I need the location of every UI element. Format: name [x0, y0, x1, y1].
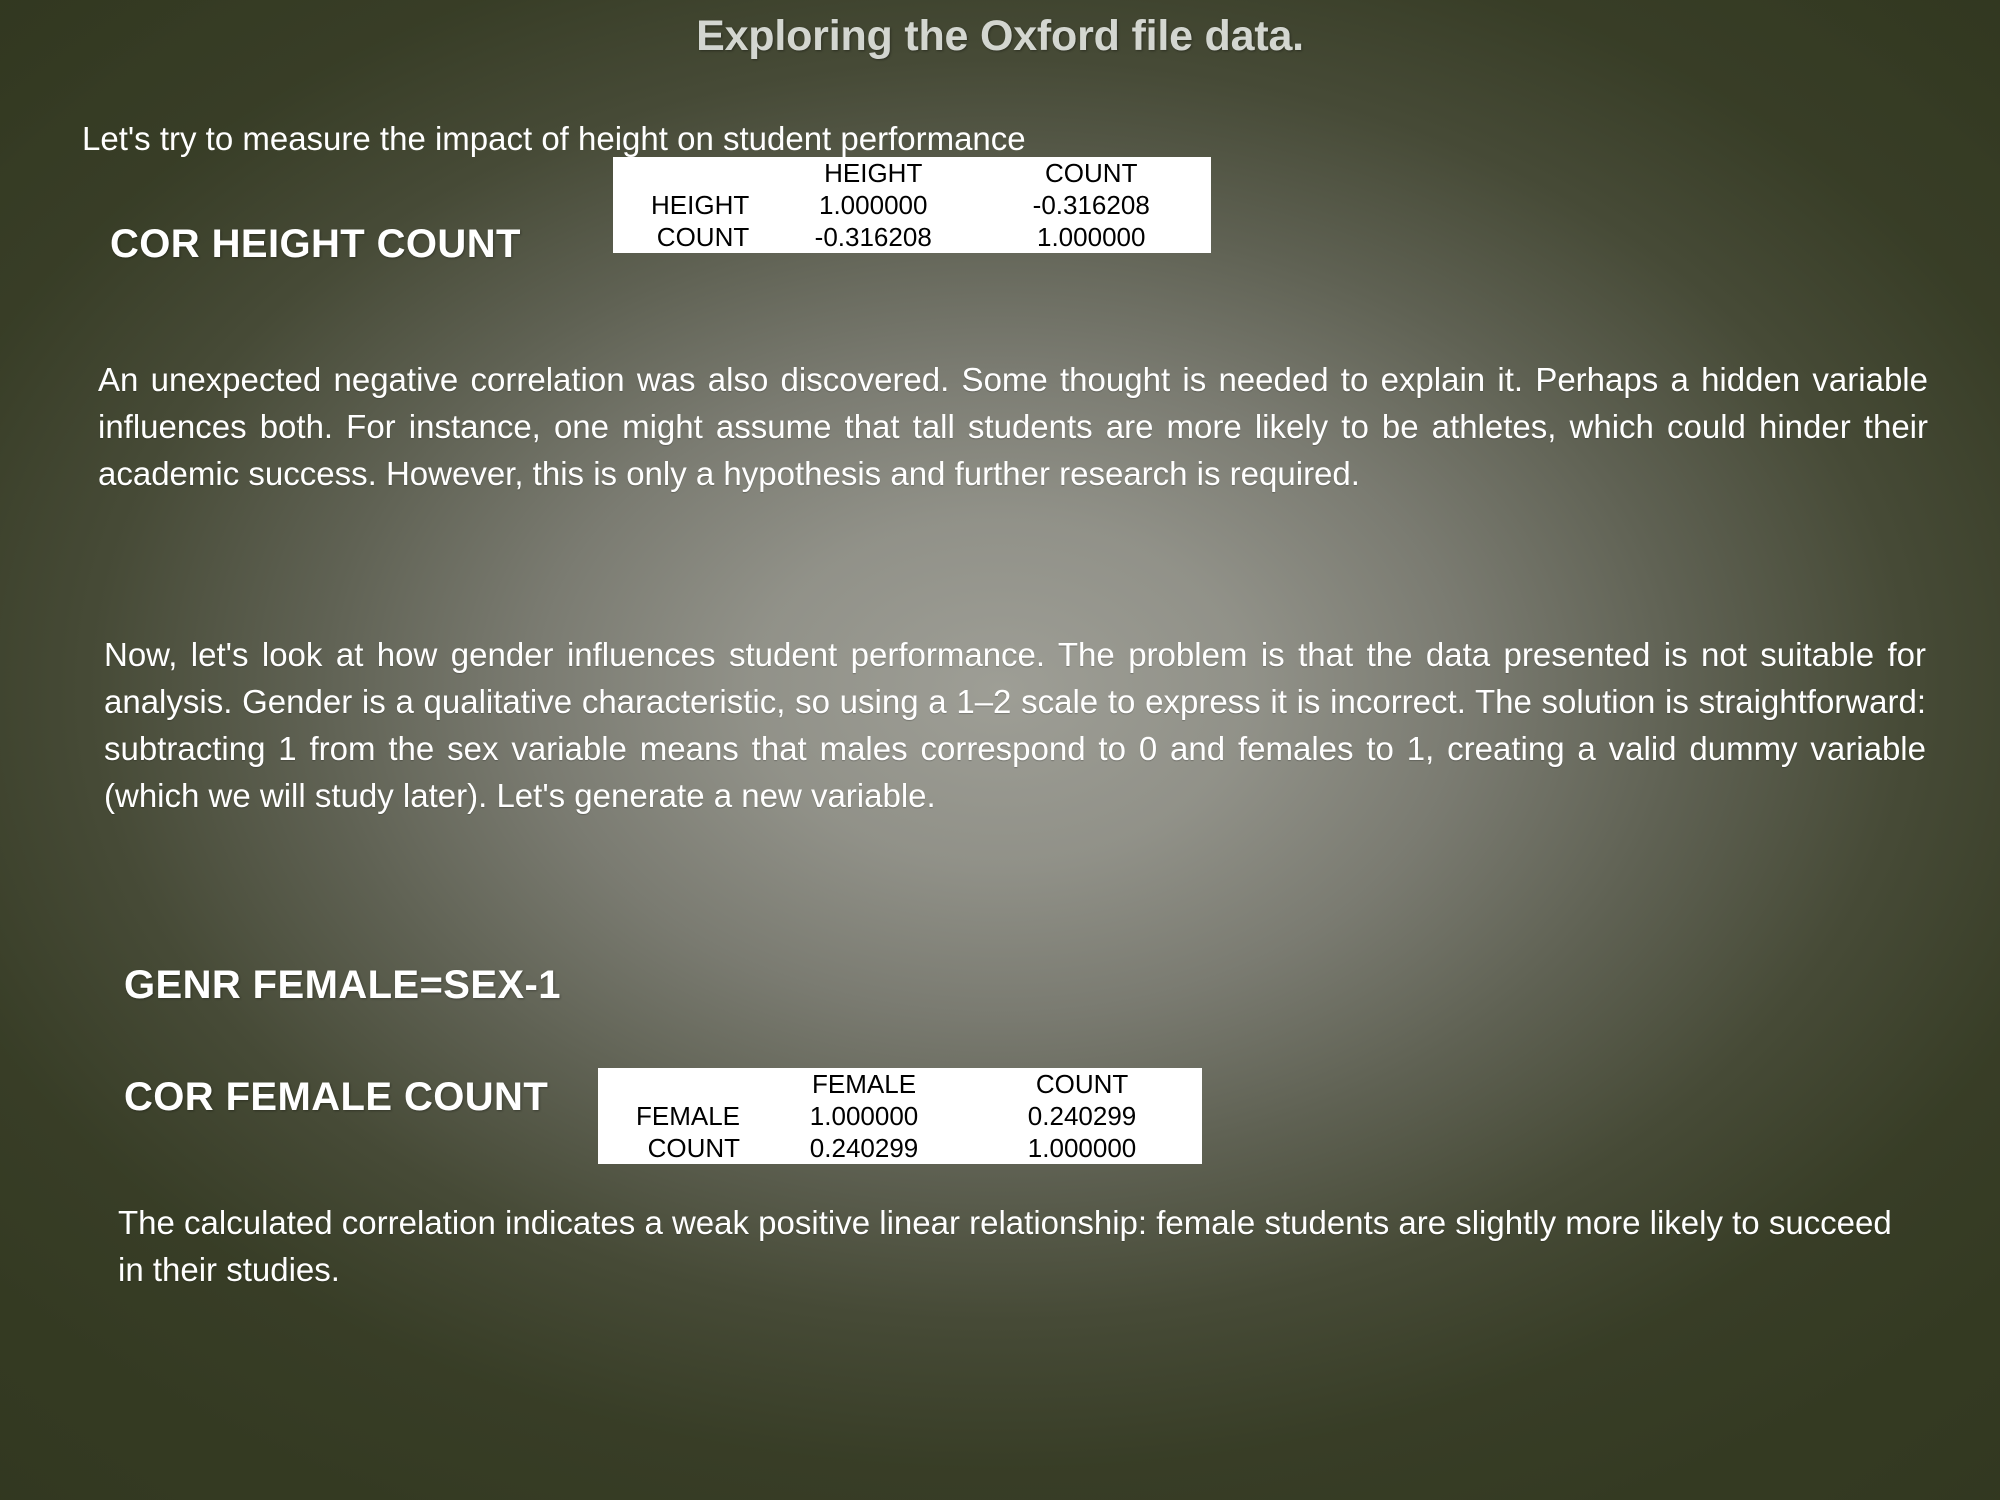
- row-label-count: COUNT: [613, 221, 775, 253]
- slide-canvas: Exploring the Oxford file data. Let's tr…: [0, 0, 2000, 1500]
- column-header-height: HEIGHT: [775, 157, 993, 189]
- table-row: HEIGHT 1.000000 -0.316208: [613, 189, 1211, 221]
- table-row: COUNT 0.240299 1.000000: [598, 1132, 1202, 1164]
- row-label-height: HEIGHT: [613, 189, 775, 221]
- row-label-female: FEMALE: [598, 1100, 766, 1132]
- column-header-count: COUNT: [984, 1068, 1202, 1100]
- table-corner-cell: [613, 157, 775, 189]
- row-label-count: COUNT: [598, 1132, 766, 1164]
- table-row: FEMALE 1.000000 0.240299: [598, 1100, 1202, 1132]
- paragraph-negative-correlation: An unexpected negative correlation was a…: [98, 357, 1928, 498]
- slide-content: Exploring the Oxford file data. Let's tr…: [0, 0, 2000, 1500]
- cell-count-female: 0.240299: [766, 1132, 984, 1164]
- cell-count-count: 1.000000: [984, 1132, 1202, 1164]
- paragraph-conclusion: The calculated correlation indicates a w…: [118, 1200, 1918, 1294]
- cell-height-count: -0.316208: [993, 189, 1211, 221]
- cell-count-height: -0.316208: [775, 221, 993, 253]
- column-header-female: FEMALE: [766, 1068, 984, 1100]
- cell-female-count: 0.240299: [984, 1100, 1202, 1132]
- correlation-table-height-count: HEIGHT COUNT HEIGHT 1.000000 -0.316208 C…: [613, 157, 1211, 253]
- cell-female-female: 1.000000: [766, 1100, 984, 1132]
- table-header-row: HEIGHT COUNT: [613, 157, 1211, 189]
- intro-line: Let's try to measure the impact of heigh…: [82, 120, 1026, 158]
- paragraph-gender-dummy: Now, let's look at how gender influences…: [104, 632, 1926, 819]
- table-corner-cell: [598, 1068, 766, 1100]
- table-row: COUNT -0.316208 1.000000: [613, 221, 1211, 253]
- command-cor-female-count: COR FEMALE COUNT: [124, 1075, 548, 1120]
- cell-height-height: 1.000000: [775, 189, 993, 221]
- page-title: Exploring the Oxford file data.: [0, 12, 2000, 61]
- command-genr-female: GENR FEMALE=SEX-1: [124, 963, 561, 1008]
- table-header-row: FEMALE COUNT: [598, 1068, 1202, 1100]
- column-header-count: COUNT: [993, 157, 1211, 189]
- correlation-table-female-count: FEMALE COUNT FEMALE 1.000000 0.240299 CO…: [598, 1068, 1202, 1164]
- command-cor-height-count: COR HEIGHT COUNT: [110, 222, 521, 267]
- cell-count-count: 1.000000: [993, 221, 1211, 253]
